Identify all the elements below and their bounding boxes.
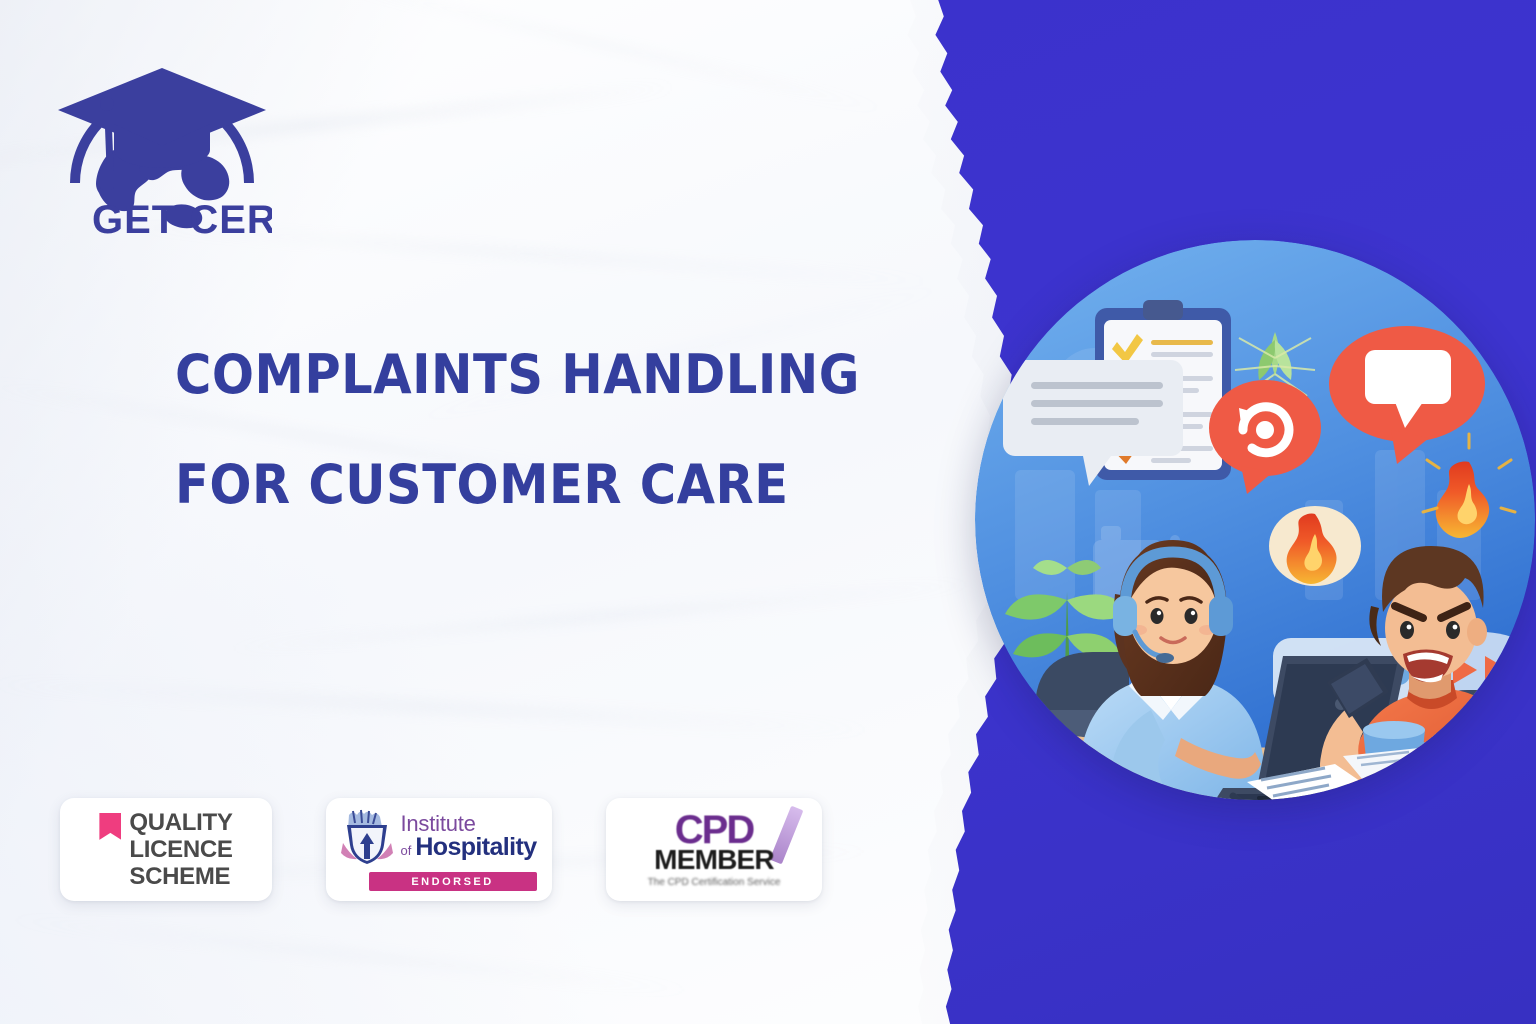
title-line-1: COMPLAINTS HANDLING xyxy=(175,348,889,402)
ioh-endorsed-ribbon: ENDORSED xyxy=(369,872,537,891)
pink-ribbon-bookmark-icon xyxy=(99,813,121,840)
ioh-word-hospitality: Hospitality xyxy=(415,835,536,860)
customer-service-illustration xyxy=(975,240,1535,800)
title-line-2: FOR CUSTOMER CARE xyxy=(175,458,889,512)
hospitality-crest-icon xyxy=(341,809,393,865)
cpd-member-label: MEMBER xyxy=(629,846,799,874)
badge-cpd-member[interactable]: CPD MEMBER The CPD Certification Service xyxy=(606,798,822,901)
page-title: COMPLAINTS HANDLING FOR CUSTOMER CARE xyxy=(175,348,875,512)
brand-logo[interactable]: GET CERTIFY xyxy=(52,38,272,238)
badge-quality-licence-scheme[interactable]: QUALITY LICENCE SCHEME xyxy=(60,798,272,901)
qls-line-3: SCHEME xyxy=(129,863,232,890)
badge-institute-of-hospitality[interactable]: Institute of Hospitality ENDORSED xyxy=(326,798,552,901)
ioh-word-of: of xyxy=(400,844,411,857)
cpd-caption: The CPD Certification Service xyxy=(629,877,799,889)
qls-line-1: QUALITY xyxy=(129,809,232,836)
poster-canvas: GET CERTIFY COMPLAINTS HANDLING FOR CUST… xyxy=(0,0,1536,1024)
accreditation-badges: QUALITY LICENCE SCHEME xyxy=(60,798,822,901)
logo-wordmark: GET CERTIFY xyxy=(92,198,272,238)
ioh-word-institute: Institute xyxy=(400,813,536,835)
qls-line-2: LICENCE xyxy=(129,836,232,863)
